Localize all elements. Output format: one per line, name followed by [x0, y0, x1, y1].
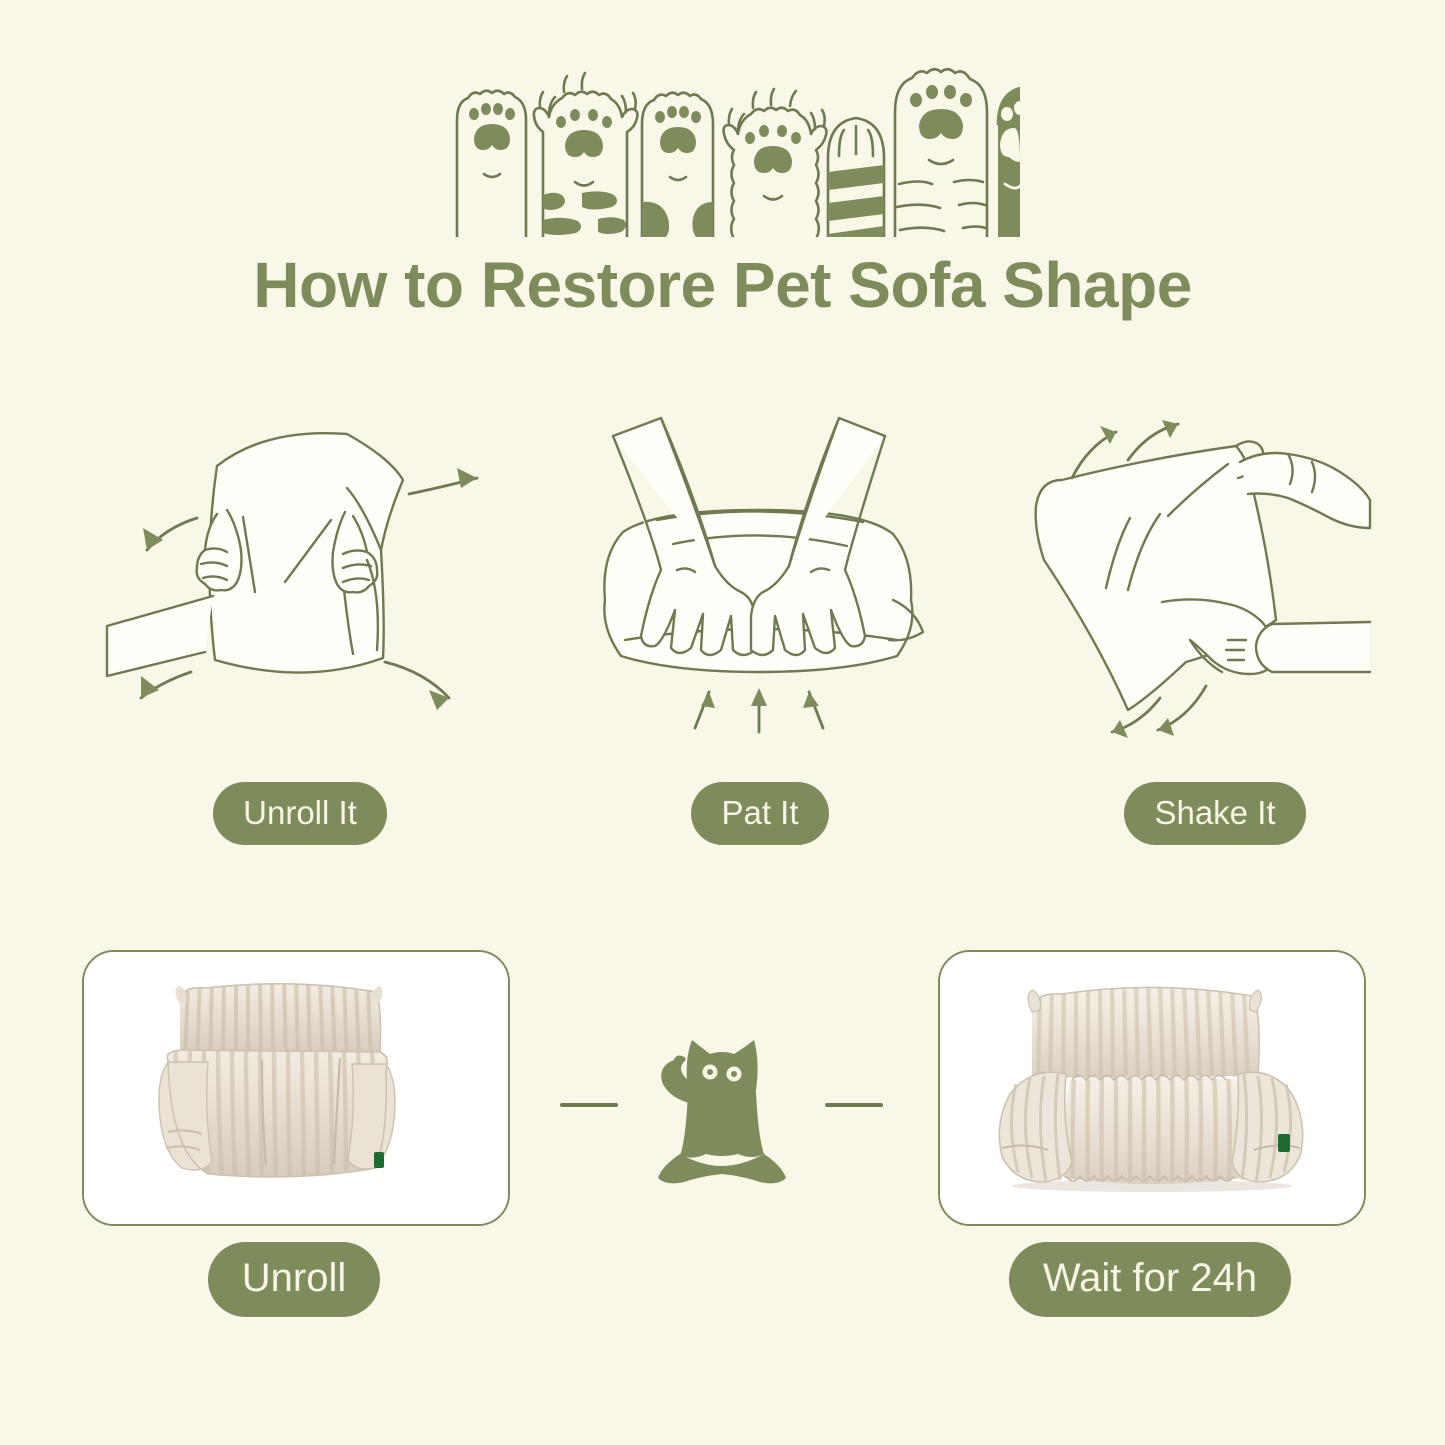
- hands-unrolling-cushion-illustration: [85, 410, 515, 765]
- step-shake-it-badge-wrap: Shake It: [1000, 782, 1430, 845]
- step-unroll-it-badge-wrap: Unroll It: [85, 782, 515, 845]
- divider-dash-right: [825, 1103, 883, 1107]
- step-unroll-it-badge[interactable]: Unroll It: [213, 782, 387, 845]
- product-after-badge[interactable]: Wait for 24h: [1009, 1242, 1291, 1317]
- brand-tag: [1278, 1134, 1290, 1152]
- step-pat-it: Pat It: [545, 410, 975, 860]
- paw-2: [534, 73, 638, 237]
- cat-paws-row: [430, 62, 1020, 237]
- step-shake-it: Shake It: [1000, 410, 1430, 860]
- product-before-badge[interactable]: Unroll: [208, 1242, 380, 1317]
- product-card-before[interactable]: [82, 950, 510, 1226]
- paw-7: [998, 88, 1020, 237]
- step-shake-it-badge[interactable]: Shake It: [1124, 782, 1305, 845]
- brand-tag: [374, 1152, 384, 1168]
- steps-row: Unroll It: [0, 410, 1445, 860]
- infographic-root: How to Restore Pet Sofa Shape: [0, 0, 1445, 1445]
- hands-shaking-cushion-illustration: [1000, 410, 1430, 765]
- sitting-cat-silhouette-icon: [640, 1020, 805, 1190]
- product-card-after[interactable]: [938, 950, 1366, 1226]
- hands-patting-cushion-illustration: [545, 410, 975, 765]
- paw-3: [642, 93, 713, 237]
- product-before-badge-wrap: Unroll: [82, 1242, 506, 1317]
- page-title: How to Restore Pet Sofa Shape: [0, 248, 1445, 322]
- product-after-badge-wrap: Wait for 24h: [938, 1242, 1362, 1317]
- expanded-pet-sofa-photo: [940, 952, 1364, 1224]
- paw-6: [895, 69, 987, 237]
- divider-dash-left: [560, 1103, 618, 1107]
- paw-4: [724, 89, 827, 237]
- compressed-pet-sofa-photo: [84, 952, 508, 1224]
- paw-1: [457, 91, 526, 237]
- step-pat-it-badge-wrap: Pat It: [545, 782, 975, 845]
- step-unroll-it: Unroll It: [85, 410, 515, 860]
- paw-5: [828, 118, 884, 237]
- step-pat-it-badge[interactable]: Pat It: [691, 782, 828, 845]
